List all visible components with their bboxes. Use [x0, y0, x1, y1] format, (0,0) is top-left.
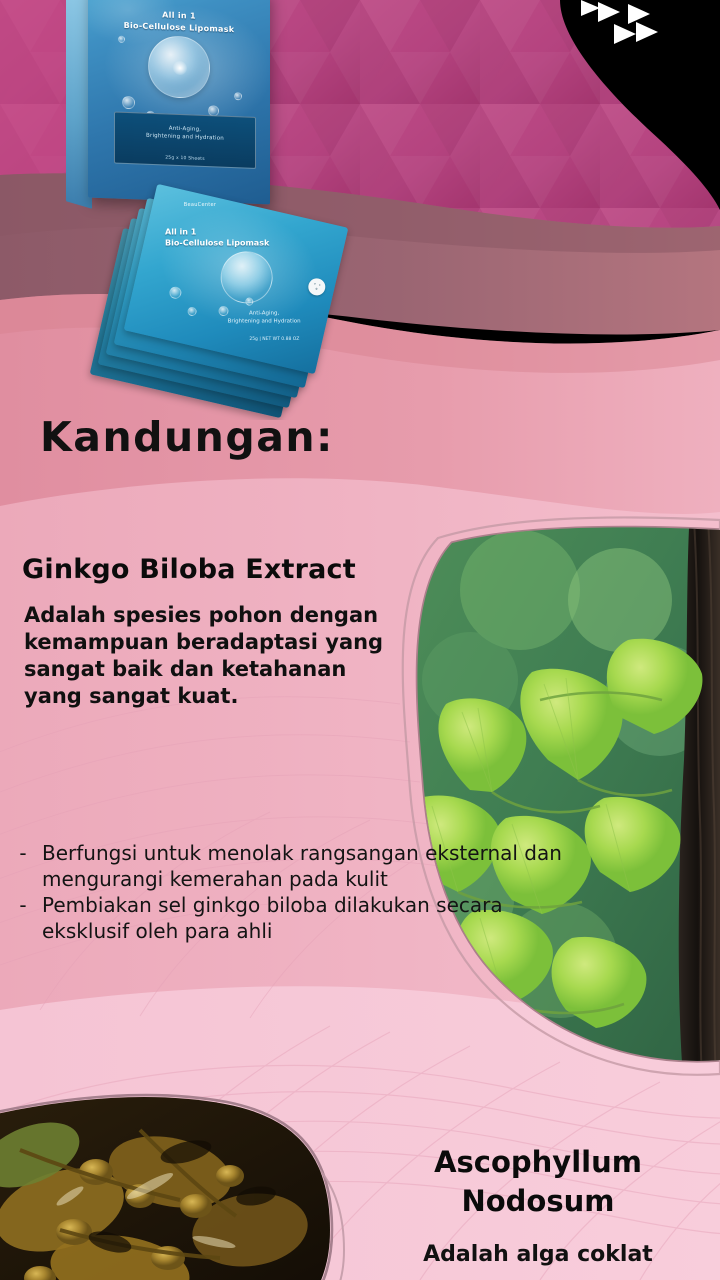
- section-heading-ascophyllum: Ascophyllum Nodosum: [388, 1143, 688, 1221]
- sachet-brand: BeauCenter: [184, 202, 217, 208]
- box-net-weight: 25g x 10 Sheets: [115, 154, 255, 164]
- sachet-subtitle-line2: Brightening and Hydration: [216, 317, 312, 325]
- section-paragraph-ginkgo: Adalah spesies pohon dengan kemampuan be…: [24, 602, 394, 710]
- sachet-subtitle-line1: Anti-Aging,: [216, 309, 312, 317]
- bullet-marker: -: [14, 892, 32, 918]
- sachet-net-weight: 25g | NET WT 0.88 OZ: [249, 337, 299, 342]
- package-box: BeauCenter All in 1 Bio-Cellulose Lipoma…: [88, 0, 270, 204]
- sachet-title-line2: Bio-Cellulose Lipomask: [165, 237, 285, 248]
- sachet-title-line1: All in 1: [165, 226, 285, 237]
- heading-line-1: Ascophyllum: [388, 1143, 688, 1182]
- sachet-title: All in 1 Bio-Cellulose Lipomask: [165, 226, 285, 248]
- box-subtitle: Anti-Aging, Brightening and Hydration: [115, 123, 255, 144]
- section-heading-ginkgo: Ginkgo Biloba Extract: [22, 554, 356, 585]
- sachet-subtitle: Anti-Aging, Brightening and Hydration: [216, 309, 312, 325]
- bubble-icon: [118, 36, 125, 43]
- section-paragraph-ascophyllum: Adalah alga coklat: [388, 1242, 688, 1267]
- heading-line-2: Nodosum: [388, 1182, 688, 1221]
- bullet-text: Pembiakan sel ginkgo biloba dilakukan se…: [42, 892, 574, 944]
- bubble-icon: [234, 92, 242, 100]
- page-title: Kandungan:: [40, 413, 334, 461]
- product-photo: BeauCenter All in 1 Bio-Cellulose Lipoma…: [0, 0, 500, 420]
- bubble-icon: [122, 96, 135, 109]
- ginkgo-bullet-list: - Berfungsi untuk menolak rangsangan eks…: [14, 840, 574, 944]
- bullet-text: Berfungsi untuk menolak rangsangan ekste…: [42, 840, 574, 892]
- list-item: - Pembiakan sel ginkgo biloba dilakukan …: [14, 892, 574, 944]
- bullet-marker: -: [14, 840, 32, 866]
- box-window: Anti-Aging, Brightening and Hydration 25…: [114, 112, 256, 169]
- list-item: - Berfungsi untuk menolak rangsangan eks…: [14, 840, 574, 892]
- poster-canvas: BeauCenter All in 1 Bio-Cellulose Lipoma…: [0, 0, 720, 1280]
